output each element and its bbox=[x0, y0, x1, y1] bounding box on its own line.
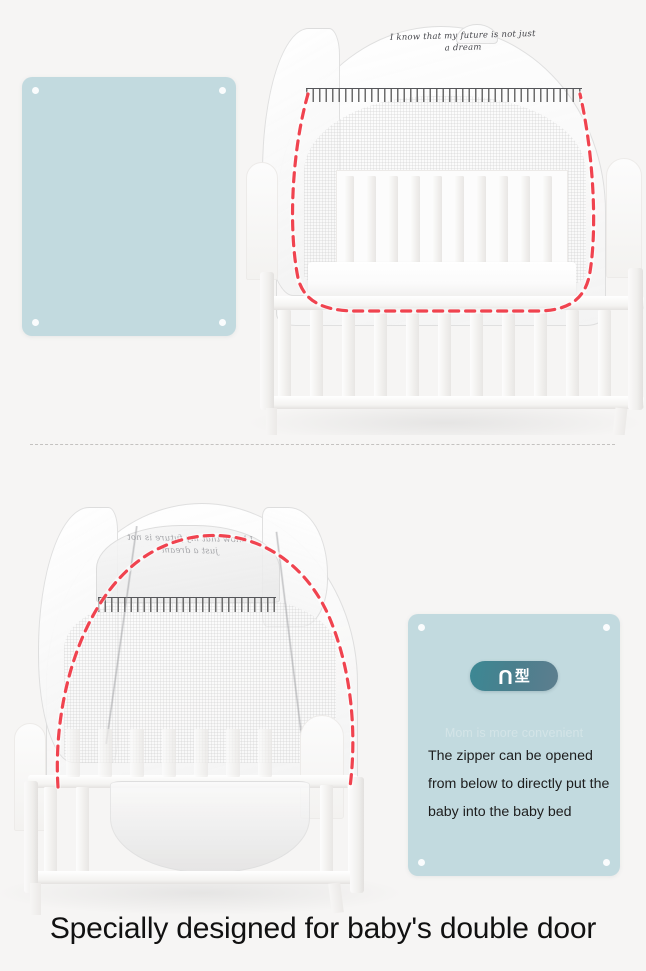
corner-dot-icon bbox=[418, 624, 425, 631]
canopy-script-text: I know that my future is not just a drea… bbox=[120, 532, 260, 559]
crib-post-left bbox=[24, 781, 38, 893]
n-shape-glyph: U bbox=[498, 666, 512, 686]
corner-dot-icon bbox=[219, 319, 226, 326]
crib-post-left bbox=[260, 272, 274, 410]
card-subtitle-n: Mom is more convenient bbox=[408, 726, 620, 740]
badge-cn-label: 型 bbox=[515, 669, 530, 684]
crib-bottom-rail bbox=[24, 871, 364, 884]
corner-dot-icon bbox=[418, 859, 425, 866]
corner-dot-icon bbox=[32, 87, 39, 94]
badge-n-shape: U 型 bbox=[470, 661, 558, 691]
crib-post-right bbox=[350, 777, 364, 893]
crib-headboard-right bbox=[606, 158, 642, 278]
canopy-script-text: I know that my future is not just a drea… bbox=[388, 28, 539, 56]
tent-fringe-trim bbox=[306, 88, 582, 102]
feature-card-n-shape: U 型 Mom is more convenient The zipper ca… bbox=[408, 614, 620, 876]
crib-post-right bbox=[628, 268, 643, 410]
crib-front-rail-bottom bbox=[260, 396, 644, 409]
product-feature-page: I know that my future is not just a drea… bbox=[0, 0, 646, 971]
crib-front-rail-top bbox=[260, 296, 644, 310]
section-divider bbox=[30, 444, 615, 445]
section-n-shape: I know that my future is not just a drea… bbox=[0, 475, 646, 915]
page-caption: Specially designed for baby's double doo… bbox=[0, 912, 646, 946]
crib-headboard-left bbox=[246, 162, 278, 280]
card-body-n: The zipper can be opened from below to d… bbox=[428, 742, 614, 826]
corner-dot-icon bbox=[603, 859, 610, 866]
corner-dot-icon bbox=[603, 624, 610, 631]
section-u-shape: I know that my future is not just a drea… bbox=[0, 0, 646, 445]
feature-card-u-shape bbox=[22, 77, 236, 336]
corner-dot-icon bbox=[219, 87, 226, 94]
crib-tent-n-zipper-photo: I know that my future is not just a drea… bbox=[0, 485, 420, 915]
crib-tent-u-zipper-photo: I know that my future is not just a drea… bbox=[240, 10, 646, 435]
crib-mattress bbox=[308, 262, 576, 298]
corner-dot-icon bbox=[32, 319, 39, 326]
tent-draped-mesh bbox=[110, 781, 310, 873]
